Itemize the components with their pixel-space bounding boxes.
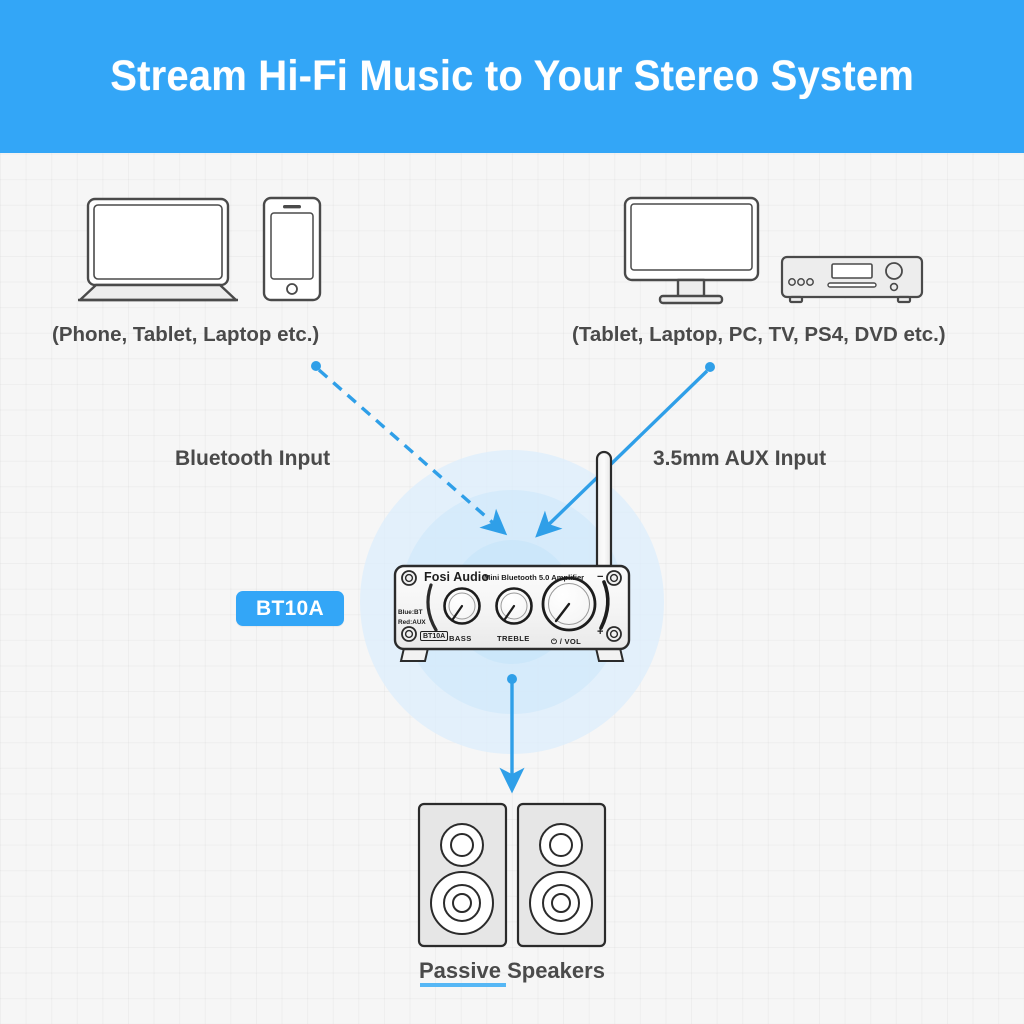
bluetooth-input-label: Bluetooth Input [175, 447, 330, 471]
speakers-layer [0, 0, 1024, 1024]
speaker-left [419, 804, 506, 946]
led-label-aux: Red:AUX [398, 619, 426, 626]
aux-sources-caption: (Tablet, Laptop, PC, TV, PS4, DVD etc.) [572, 323, 946, 347]
monitor-icon [625, 198, 758, 303]
volume-knob [543, 578, 595, 630]
diagram-layer [0, 0, 1024, 1024]
treble-knob [497, 589, 532, 624]
av-receiver-icon [782, 257, 922, 302]
signal-halo [360, 450, 664, 754]
volume-minus-mark: − [597, 572, 603, 583]
bt10a-badge[interactable]: BT10A [236, 591, 344, 626]
infographic-canvas: Stream Hi-Fi Music to Your Stereo System [0, 0, 1024, 1024]
bluetooth-sources-caption: (Phone, Tablet, Laptop etc.) [52, 323, 319, 347]
antenna-rod [597, 452, 611, 578]
amp-model-text: Mini Bluetooth 5.0 Amplifier [484, 573, 584, 582]
header-banner: Stream Hi-Fi Music to Your Stereo System [0, 0, 1024, 153]
amp-brand: Fosi Audio [424, 570, 489, 584]
passive-speakers-underline [420, 983, 506, 987]
bt10a-badge-label: BT10A [256, 597, 324, 621]
led-label-bt: Blue:BT [398, 609, 423, 616]
volume-arc [601, 582, 608, 628]
bluetooth-arrow [311, 361, 500, 529]
aux-input-label: 3.5mm AUX Input [653, 447, 826, 471]
page-title: Stream Hi-Fi Music to Your Stereo System [110, 52, 914, 101]
speaker-right [518, 804, 605, 946]
device-icons-layer [0, 0, 1024, 1024]
smartphone-icon [264, 198, 320, 300]
amp-panel-badge: BT10A [420, 631, 448, 641]
volume-knob-label: ⏻ / VOL [551, 637, 581, 647]
speaker-output-arrow [507, 674, 517, 784]
bass-knob-label: BASS [449, 634, 472, 643]
passive-speakers-label: Passive Speakers [419, 958, 605, 984]
bass-knob [445, 589, 480, 624]
led-indicator-curve [428, 585, 436, 630]
volume-plus-mark: + [597, 627, 603, 638]
treble-knob-label: TREBLE [497, 634, 530, 643]
laptop-icon [78, 199, 238, 300]
